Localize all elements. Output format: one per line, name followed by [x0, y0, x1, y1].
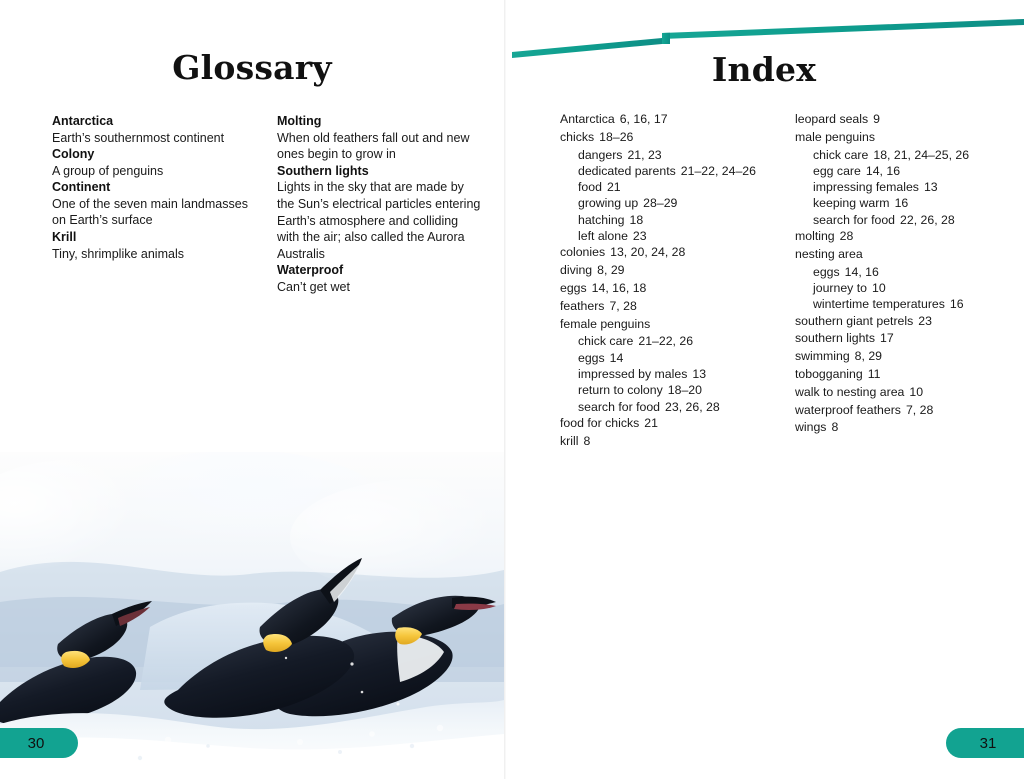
glossary-definition: Can’t get wet: [277, 279, 482, 296]
index-entry-pages: 18, 21, 24–25, 26: [873, 148, 969, 162]
index-subentry: impressing females13: [795, 181, 1010, 193]
index-entry-pages: 14, 16, 18: [592, 281, 647, 295]
glossary-entry: Colony A group of penguins: [52, 146, 257, 179]
index-entry-pages: 23: [918, 314, 932, 328]
index-entry-label: eggs: [813, 265, 840, 279]
index-entry-label: chick care: [813, 148, 868, 162]
index-subentry: journey to10: [795, 282, 1010, 294]
page-number-right: 31: [946, 728, 1024, 758]
glossary-entry: Waterproof Can’t get wet: [277, 262, 482, 295]
index-subentry: eggs14, 16: [795, 266, 1010, 278]
index-entry-label: nesting area: [795, 247, 863, 261]
glossary-entry: Krill Tiny, shrimplike animals: [52, 229, 257, 262]
index-entry-label: left alone: [578, 229, 628, 243]
page-title-index: Index: [504, 50, 1024, 89]
index-entry-label: eggs: [560, 281, 587, 295]
index-entry-pages: 9: [873, 112, 880, 126]
index-subentry: dangers21, 23: [560, 149, 775, 161]
index-entry-label: diving: [560, 263, 592, 277]
index-entry-pages: 13: [692, 367, 706, 381]
index-list: Antarctica6, 16, 17chicks18–26dangers21,…: [560, 113, 1010, 452]
index-entry-label: feathers: [560, 299, 604, 313]
index-entry-pages: 8, 29: [597, 263, 624, 277]
index-entry-label: leopard seals: [795, 112, 868, 126]
book-spread: Glossary Index Antarctica Earth’s southe…: [0, 0, 1024, 779]
index-entry-label: male penguins: [795, 130, 875, 144]
index-entry-pages: 7, 28: [609, 299, 636, 313]
index-entry-pages: 8: [831, 420, 838, 434]
index-entry-label: return to colony: [578, 383, 663, 397]
index-entry-pages: 21: [644, 416, 658, 430]
index-entry-label: wings: [795, 420, 826, 434]
index-entry: walk to nesting area10: [795, 386, 1010, 398]
index-entry-label: southern lights: [795, 331, 875, 345]
index-entry-pages: 10: [872, 281, 886, 295]
index-entry: southern giant petrels23: [795, 315, 1010, 327]
index-subentry: dedicated parents21–22, 24–26: [560, 165, 775, 177]
glossary-entry: Molting When old feathers fall out and n…: [277, 113, 482, 163]
index-entry-label: journey to: [813, 281, 867, 295]
index-subentry: growing up28–29: [560, 197, 775, 209]
index-subentry: chick care18, 21, 24–25, 26: [795, 149, 1010, 161]
page-title-glossary: Glossary: [0, 48, 504, 87]
glossary-term: Southern lights: [277, 163, 482, 180]
index-entry-pages: 28: [840, 229, 854, 243]
index-entry-pages: 14, 16: [866, 164, 900, 178]
index-entry-pages: 7, 28: [906, 403, 933, 417]
glossary-list: Antarctica Earth’s southernmost continen…: [52, 113, 482, 296]
index-entry-pages: 8, 29: [855, 349, 882, 363]
index-entry-pages: 18–26: [599, 130, 633, 144]
index-entry: feathers7, 28: [560, 300, 775, 312]
index-entry: krill8: [560, 435, 775, 447]
index-subentry: search for food23, 26, 28: [560, 401, 775, 413]
index-subentry: return to colony18–20: [560, 384, 775, 396]
penguin-photo: [0, 452, 504, 779]
index-entry: leopard seals9: [795, 113, 1010, 125]
index-subentry: wintertime temperatures16: [795, 298, 1010, 310]
index-entry: tobogganing11: [795, 368, 1010, 380]
index-entry-pages: 21–22, 26: [638, 334, 693, 348]
index-entry: food for chicks21: [560, 417, 775, 429]
index-entry: wings8: [795, 421, 1010, 433]
index-subentry: impressed by males13: [560, 368, 775, 380]
index-entry: diving8, 29: [560, 264, 775, 276]
index-entry-label: Antarctica: [560, 112, 615, 126]
index-entry-label: wintertime temperatures: [813, 297, 945, 311]
index-entry-label: growing up: [578, 196, 638, 210]
index-entry-pages: 18: [630, 213, 644, 227]
page-gutter: [504, 0, 506, 779]
index-entry-label: search for food: [813, 213, 895, 227]
index-entry-pages: 8: [583, 434, 590, 448]
index-entry: nesting area: [795, 248, 1010, 260]
index-entry-pages: 13, 20, 24, 28: [610, 245, 685, 259]
glossary-entry: Continent One of the seven main landmass…: [52, 179, 257, 229]
page-number-left: 30: [0, 728, 78, 758]
index-entry: eggs14, 16, 18: [560, 282, 775, 294]
index-entry-pages: 6, 16, 17: [620, 112, 668, 126]
index-entry: molting28: [795, 230, 1010, 242]
index-entry-pages: 16: [895, 196, 909, 210]
glossary-column-2: Molting When old feathers fall out and n…: [277, 113, 482, 296]
index-entry-label: waterproof feathers: [795, 403, 901, 417]
index-entry-pages: 28–29: [643, 196, 677, 210]
glossary-definition: One of the seven main landmasses on Eart…: [52, 196, 257, 229]
index-subentry: egg care14, 16: [795, 165, 1010, 177]
index-entry-pages: 23, 26, 28: [665, 400, 720, 414]
index-entry-label: molting: [795, 229, 835, 243]
index-entry-label: eggs: [578, 351, 605, 365]
index-entry-label: walk to nesting area: [795, 385, 904, 399]
glossary-term: Antarctica: [52, 113, 257, 130]
index-entry: southern lights17: [795, 332, 1010, 344]
index-subentry: chick care21–22, 26: [560, 335, 775, 347]
index-entry-pages: 21–22, 24–26: [681, 164, 756, 178]
index-entry-label: keeping warm: [813, 196, 890, 210]
index-entry: chicks18–26: [560, 131, 775, 143]
index-entry-pages: 21, 23: [627, 148, 661, 162]
index-entry-label: southern giant petrels: [795, 314, 913, 328]
index-entry: Antarctica6, 16, 17: [560, 113, 775, 125]
glossary-column-1: Antarctica Earth’s southernmost continen…: [52, 113, 257, 296]
index-entry: colonies13, 20, 24, 28: [560, 246, 775, 258]
glossary-entry: Antarctica Earth’s southernmost continen…: [52, 113, 257, 146]
index-column-1: Antarctica6, 16, 17chicks18–26dangers21,…: [560, 113, 775, 452]
index-entry-label: chicks: [560, 130, 594, 144]
glossary-definition: When old feathers fall out and new ones …: [277, 130, 482, 163]
glossary-definition: Lights in the sky that are made by the S…: [277, 179, 482, 262]
index-entry: waterproof feathers7, 28: [795, 404, 1010, 416]
index-entry-pages: 17: [880, 331, 894, 345]
index-entry-label: search for food: [578, 400, 660, 414]
index-entry-label: krill: [560, 434, 578, 448]
index-subentry: keeping warm16: [795, 197, 1010, 209]
index-entry-pages: 14: [610, 351, 624, 365]
glossary-term: Krill: [52, 229, 257, 246]
index-entry: male penguins: [795, 131, 1010, 143]
index-subentry: left alone23: [560, 230, 775, 242]
glossary-definition: Tiny, shrimplike animals: [52, 246, 257, 263]
index-subentry: eggs14: [560, 352, 775, 364]
index-entry: female penguins: [560, 318, 775, 330]
index-entry-pages: 21: [607, 180, 621, 194]
index-entry-label: food: [578, 180, 602, 194]
index-column-2: leopard seals9male penguinschick care18,…: [795, 113, 1010, 452]
index-entry-label: hatching: [578, 213, 625, 227]
index-entry-label: swimming: [795, 349, 850, 363]
index-entry-label: dangers: [578, 148, 622, 162]
glossary-definition: Earth’s southernmost continent: [52, 130, 257, 147]
index-subentry: hatching18: [560, 214, 775, 226]
index-subentry: food21: [560, 181, 775, 193]
index-entry-pages: 11: [868, 367, 881, 381]
glossary-term: Molting: [277, 113, 482, 130]
index-entry-pages: 22, 26, 28: [900, 213, 955, 227]
glossary-term: Colony: [52, 146, 257, 163]
index-entry-pages: 23: [633, 229, 647, 243]
index-entry-label: chick care: [578, 334, 633, 348]
index-entry-label: food for chicks: [560, 416, 639, 430]
index-entry-pages: 10: [909, 385, 923, 399]
index-entry-label: female penguins: [560, 317, 650, 331]
index-entry-label: tobogganing: [795, 367, 863, 381]
index-entry-pages: 13: [924, 180, 938, 194]
glossary-term: Waterproof: [277, 262, 482, 279]
index-entry: swimming8, 29: [795, 350, 1010, 362]
index-entry-label: impressing females: [813, 180, 919, 194]
index-entry-pages: 16: [950, 297, 964, 311]
index-entry-pages: 18–20: [668, 383, 702, 397]
index-entry-label: egg care: [813, 164, 861, 178]
index-subentry: search for food22, 26, 28: [795, 214, 1010, 226]
glossary-entry: Southern lights Lights in the sky that a…: [277, 163, 482, 263]
glossary-term: Continent: [52, 179, 257, 196]
index-entry-label: colonies: [560, 245, 605, 259]
glossary-definition: A group of penguins: [52, 163, 257, 180]
index-entry-pages: 14, 16: [845, 265, 879, 279]
index-entry-label: impressed by males: [578, 367, 687, 381]
index-entry-label: dedicated parents: [578, 164, 676, 178]
